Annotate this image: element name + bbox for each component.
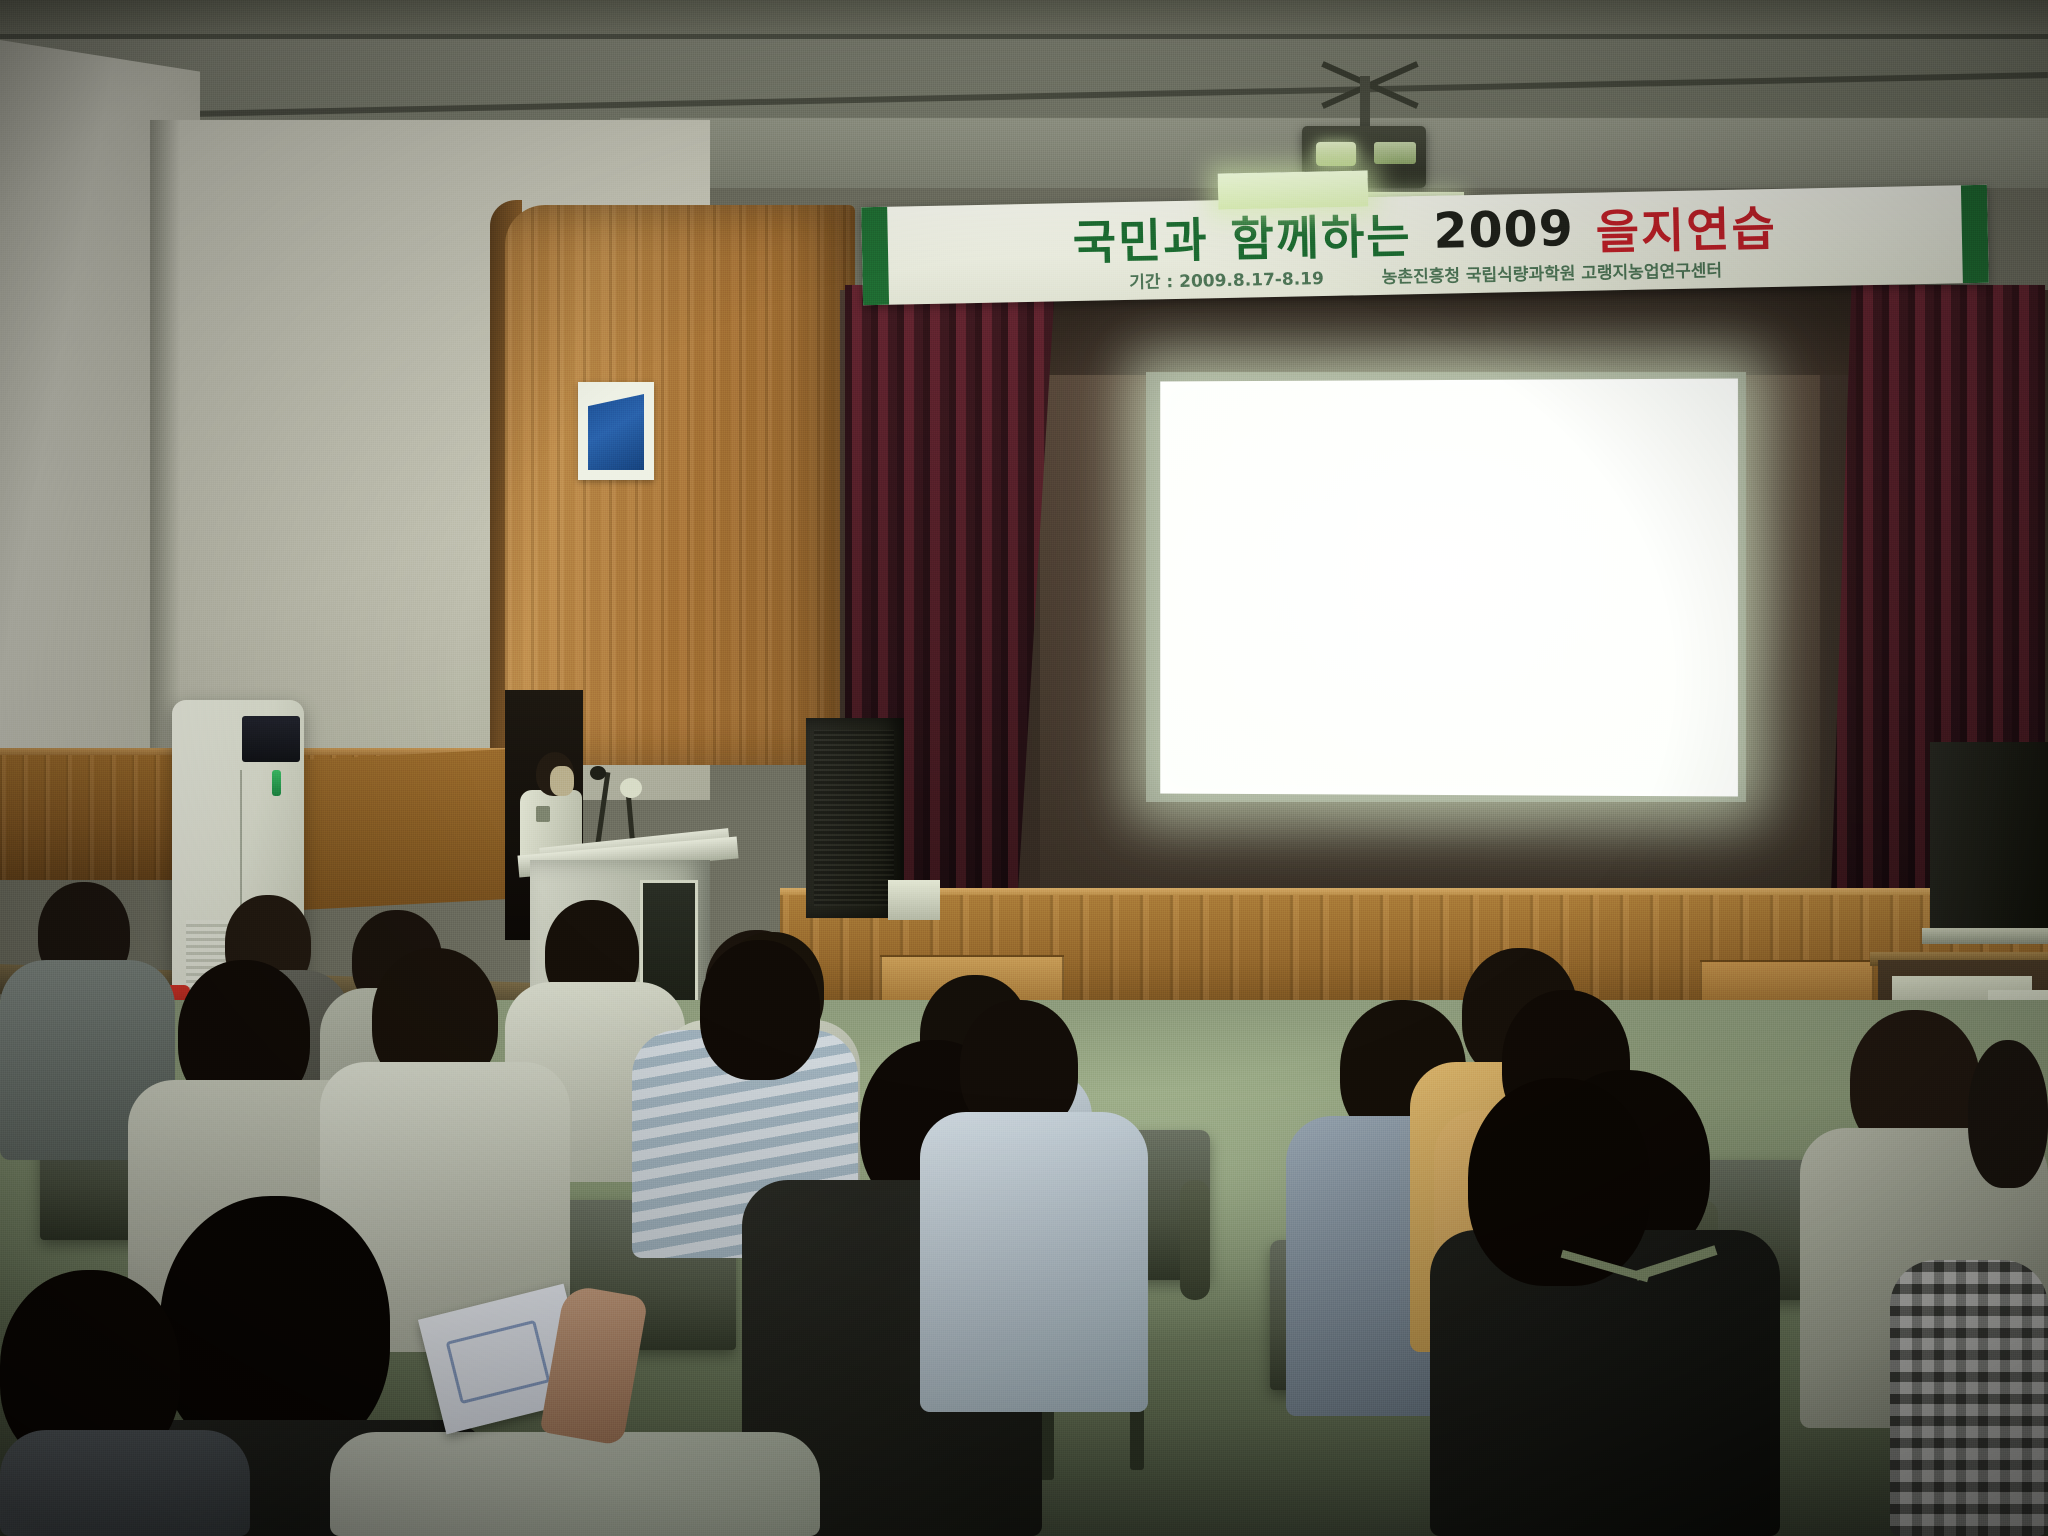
wood-column [505, 205, 855, 765]
wall-poster-image [588, 394, 644, 470]
photo-scene: 국민과 함께하는 2009 을지연습 기간 : 2009.8.17-8.19 농… [0, 0, 2048, 1536]
person-head [160, 1196, 390, 1458]
banner-tab-right [1961, 185, 1989, 284]
person-torso [920, 1112, 1148, 1412]
presenter-shoulder-badge [536, 806, 550, 822]
ceiling-band-front [0, 0, 2048, 34]
banner-subtitle-dates: 기간 : 2009.8.17-8.19 [1129, 264, 1324, 293]
projection-screen [1160, 378, 1738, 796]
loudspeaker-right [1930, 742, 2048, 932]
person-torso [330, 1432, 820, 1536]
air-conditioner-display [242, 716, 300, 762]
projector-lens-icon [1316, 142, 1356, 166]
person-head [700, 940, 820, 1080]
loudspeaker-right-base [1922, 928, 2048, 944]
wall-corner-shadow [150, 120, 180, 800]
banner-word-1: 국민과 [1072, 201, 1209, 273]
chair-arm [1180, 1180, 1210, 1300]
banner-tab-left [861, 207, 889, 306]
projector-mount-pole [1360, 76, 1370, 132]
banner-subtitle-org: 농촌진흥청 국립식량과학원 고랭지농업연구센터 [1382, 256, 1723, 288]
person-torso-plaid [1890, 1260, 2048, 1536]
microphone-head-2 [620, 778, 642, 798]
air-conditioner-led-icon [272, 770, 281, 796]
banner-light-reflection [1218, 170, 1369, 209]
person-torso [0, 1430, 250, 1536]
person-head [1468, 1078, 1650, 1286]
stage-monitor-box [888, 880, 940, 920]
microphone-head-1 [590, 766, 606, 780]
presenter-face [550, 766, 574, 796]
person-head [1968, 1040, 2048, 1188]
projector-vent [1374, 142, 1416, 164]
ceiling-seam-1 [0, 34, 2048, 39]
banner-year: 2009 [1433, 200, 1575, 260]
banner-word-4: 을지연습 [1595, 189, 1777, 262]
loudspeaker-left-grille [814, 730, 894, 906]
